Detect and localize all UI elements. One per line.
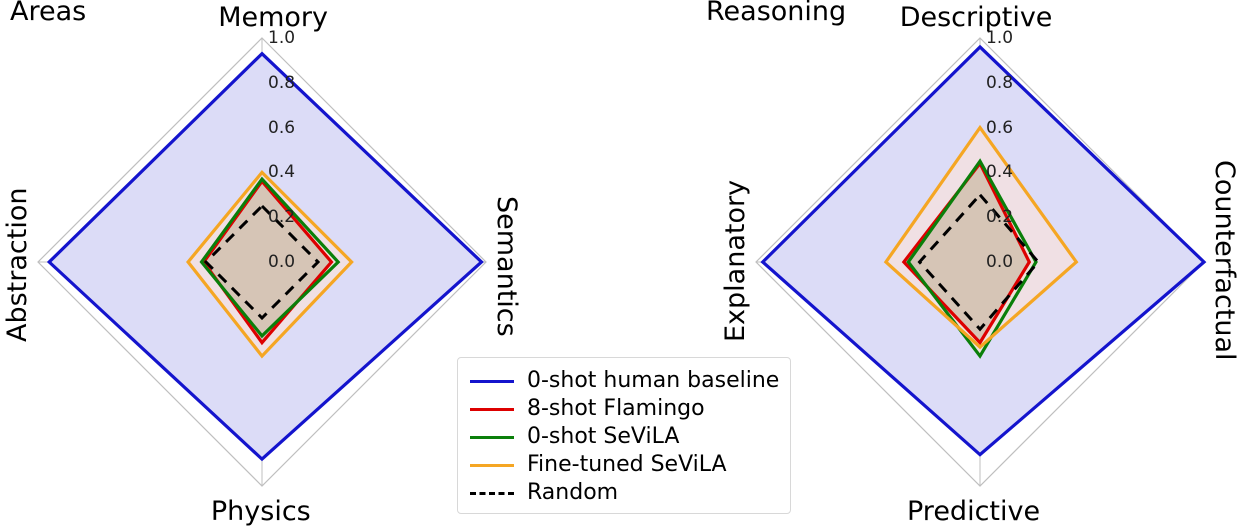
legend-label: 0-shot SeViLA [527,426,679,448]
radial-tick-label: 0.2 [268,207,295,227]
legend-item[interactable]: Fine-tuned SeViLA [470,451,778,479]
legend-item[interactable]: 0-shot SeViLA [470,423,778,451]
legend: 0-shot human baseline8-shot Flamingo0-sh… [457,357,791,514]
radial-tick-label: 0.0 [268,252,295,272]
category-label-predictive: Predictive [907,496,1040,527]
category-label-descriptive: Descriptive [900,2,1053,33]
legend-swatch-icon [470,464,514,467]
category-label-memory: Memory [218,2,328,33]
legend-item[interactable]: 0-shot human baseline [470,367,778,395]
radial-tick-label: 0.0 [986,252,1013,272]
radial-tick-label: 0.8 [268,73,295,93]
legend-label: Fine-tuned SeViLA [527,454,727,476]
category-label-semantics: Semantics [491,196,522,337]
category-label-physics: Physics [211,496,311,527]
legend-label: 0-shot human baseline [527,370,779,392]
radial-tick-label: 0.4 [986,162,1013,182]
radial-tick-label: 0.2 [986,207,1013,227]
legend-swatch-icon [470,380,514,383]
legend-label: 8-shot Flamingo [527,398,705,420]
category-label-explanatory: Explanatory [720,180,751,342]
radial-tick-label: 0.4 [268,162,295,182]
category-label-abstraction: Abstraction [2,188,33,342]
legend-item[interactable]: 8-shot Flamingo [470,395,778,423]
figure-root: Areas 0.00.20.40.60.81.0 MemorySemantics… [0,0,1242,530]
radial-tick-label: 0.6 [268,118,295,138]
category-label-counterfactual: Counterfactual [1209,160,1240,361]
legend-swatch-icon [470,492,514,495]
legend-item[interactable]: Random [470,479,778,507]
legend-label: Random [527,482,618,504]
legend-swatch-icon [470,436,514,439]
radial-tick-label: 0.8 [986,73,1013,93]
radial-tick-label: 0.6 [986,118,1013,138]
legend-swatch-icon [470,408,514,411]
